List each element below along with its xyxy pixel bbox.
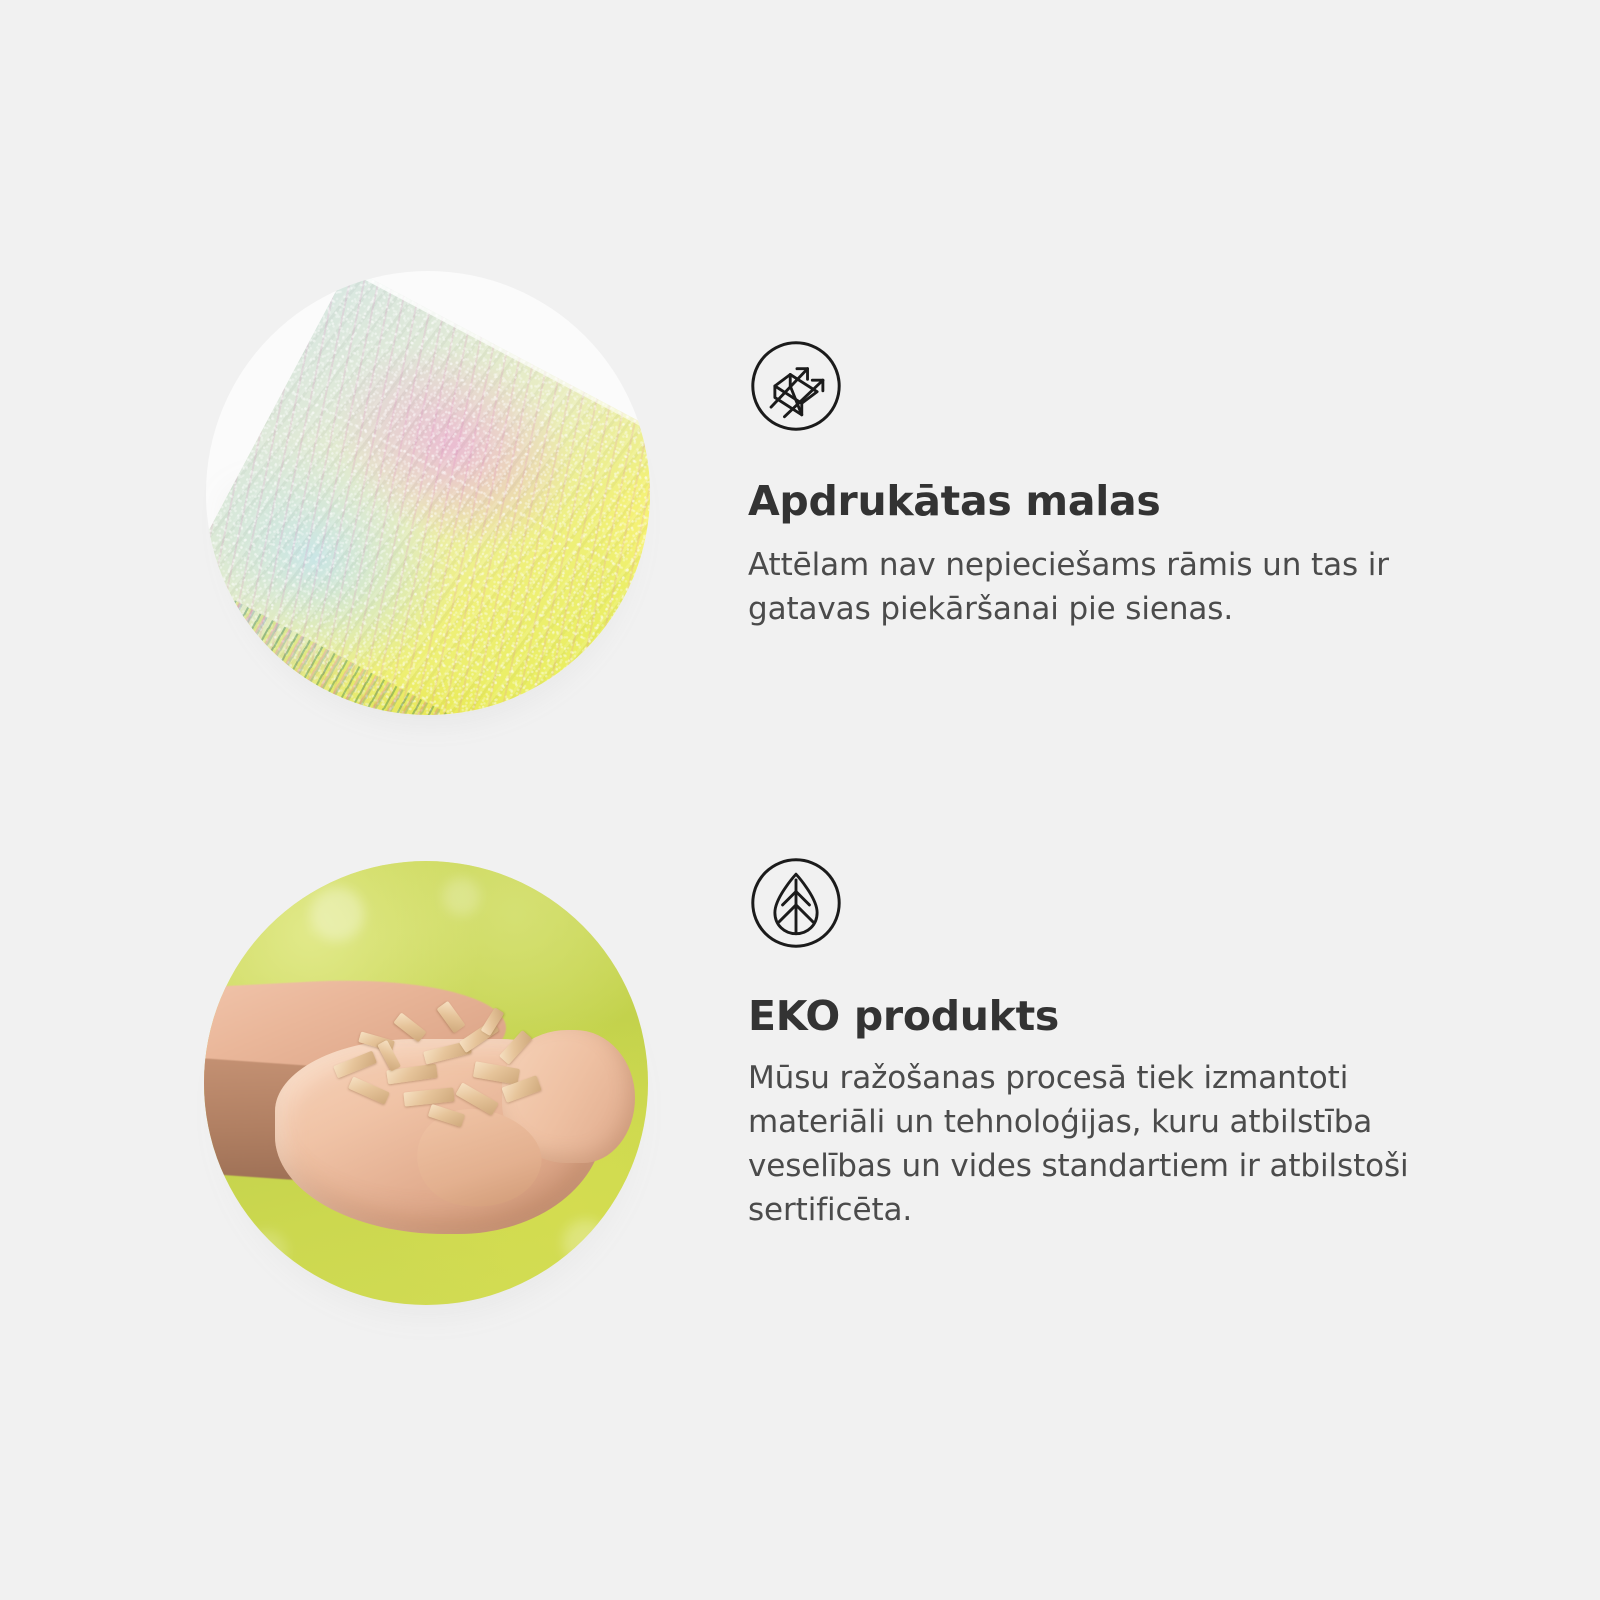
- feature-text-eko-product: EKO produkts Mūsu ražošanas procesā tiek…: [748, 855, 1460, 1232]
- feature-text-printed-edges: Apdrukātas malas Attēlam nav nepieciešam…: [748, 338, 1460, 631]
- feature-description: Mūsu ražošanas procesā tiek izmantoti ma…: [748, 1056, 1460, 1232]
- feature-description: Attēlam nav nepieciešams rāmis un tas ir…: [748, 543, 1460, 631]
- feature-list-page: Apdrukātas malas Attēlam nav nepieciešam…: [0, 0, 1600, 1600]
- feature-image-printed-edges: [206, 271, 650, 715]
- leaf-icon: [748, 855, 844, 951]
- hand-wood-chips-photo: [204, 861, 648, 1305]
- feature-image-eko-product: [204, 861, 648, 1305]
- canvas-corner-photo: [206, 271, 650, 715]
- wood-chips-pile: [319, 999, 568, 1141]
- feature-title: EKO produkts: [748, 993, 1460, 1040]
- canvas-edge-arrows-icon: [748, 338, 844, 434]
- feature-title: Apdrukātas malas: [748, 478, 1460, 525]
- canvas-slab: [206, 271, 650, 715]
